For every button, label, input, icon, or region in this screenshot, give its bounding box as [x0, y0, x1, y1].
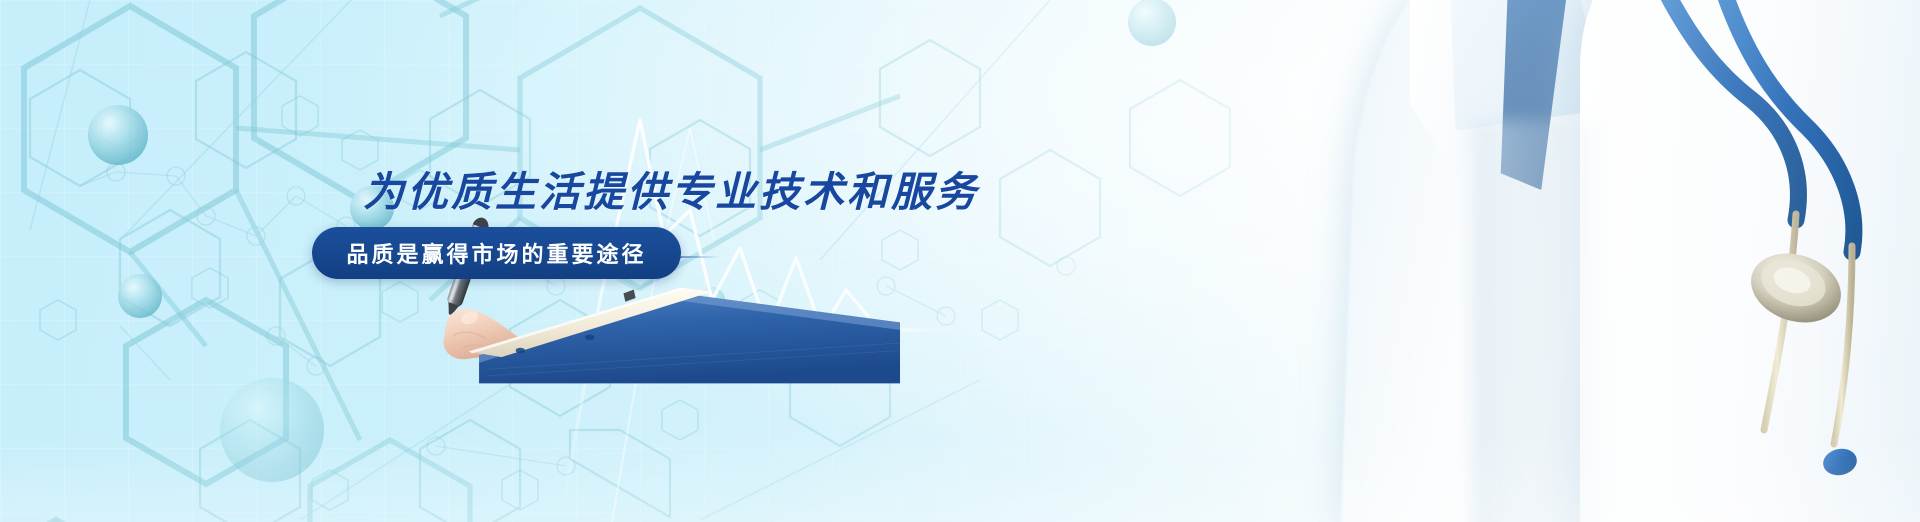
- slogan-pill: 品质是赢得市场的重要途径: [312, 227, 681, 279]
- stethoscope-icon: [1360, 0, 1920, 522]
- doctor-photo: [1020, 0, 1920, 522]
- banner-copy: 为优质生活提供专业技术和服务 Quality wins Future 品质是赢得…: [0, 0, 900, 522]
- banner-headline: 为优质生活提供专业技术和服务: [363, 158, 979, 218]
- promo-banner: 为优质生活提供专业技术和服务 Quality wins Future 品质是赢得…: [0, 0, 1920, 522]
- slogan-pill-label: 品质是赢得市场的重要途径: [346, 237, 646, 269]
